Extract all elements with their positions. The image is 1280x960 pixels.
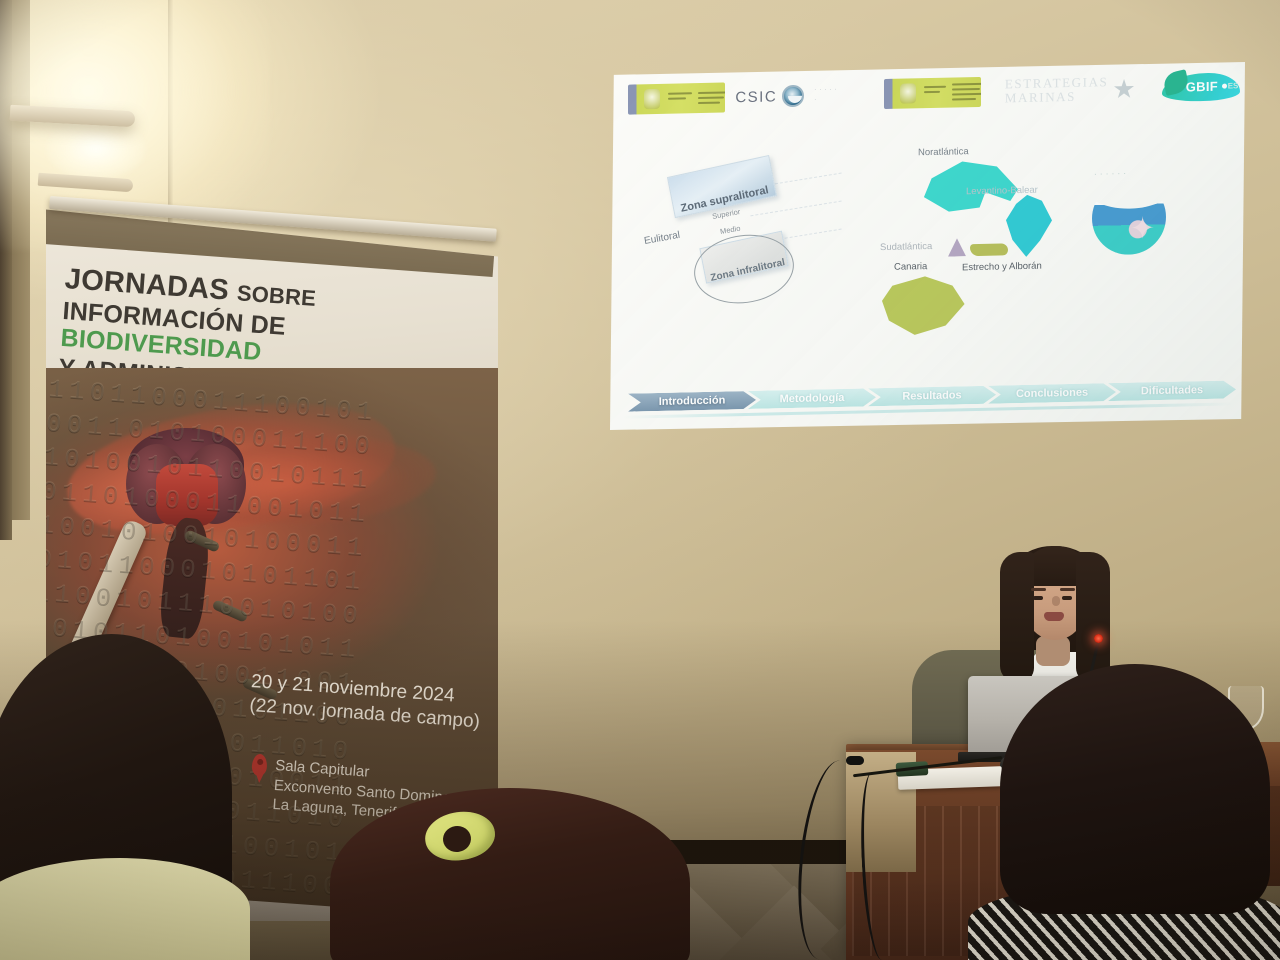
projected-slide-surface: CSIC · · · · · · [610,62,1245,430]
audience-member-left-body [0,858,250,960]
slide-logo-bar: CSIC · · · · · · [628,68,1232,117]
gobierno-transicion-ecologica-logo [884,77,981,109]
slide-content: CSIC · · · · · · [610,62,1245,430]
slide-nav-item-label: Metodología [780,392,845,405]
crest-icon-2 [900,83,916,103]
slide-nav-item-label: Dificultades [1141,384,1203,397]
gobierno-espana-logo [628,82,725,114]
gbif-es-logo: GBIF ES [1162,70,1232,104]
csic-wordmark: CSIC [735,88,777,106]
slide-nav-item-5[interactable]: Dificultades [1108,380,1236,401]
estrategias-marinas-logo: ESTRATEGIAS MARINAS ★ [1005,75,1136,105]
crest-icon [644,89,660,109]
microphone-indicator-light [1094,634,1103,643]
slide-nav-item-label: Introducción [659,394,726,407]
estrategias-marinas-caption: · · · · · · [1094,169,1127,179]
region-label-canaria: Canaria [894,261,927,273]
starfish-icon: ✦ [1130,214,1155,245]
audience-member-right-hair [1000,664,1270,914]
zonation-diagram: Zona supralitoral Superior Medio Inferio… [646,155,861,340]
region-shape-levantino-balear [1006,194,1052,257]
banner-title-word-sobre: SOBRE [236,280,317,311]
slide-nav-item-4[interactable]: Conclusiones [988,383,1116,404]
region-label-noratlantica: Noratlántica [918,146,969,158]
presenter-hair-left [1000,552,1034,682]
presenter-nose [1052,596,1060,606]
csic-mark-icon [782,85,804,107]
presenter-brow-left [1031,588,1046,591]
csic-logo: CSIC [735,85,804,109]
slide-nav-item-2[interactable]: Metodología [748,388,876,409]
presenter-eye-right [1062,596,1072,600]
star-icon: ★ [1112,76,1135,103]
podium-microphone-head [846,756,864,765]
wave-cut-shape [1092,180,1166,210]
region-label-sudatlantica: Sudatlántica [880,241,932,253]
gbif-suffix: ES [1228,81,1239,90]
projection-screen: CSIC · · · · · · [610,62,1245,430]
presenter-brow-right [1060,588,1075,591]
slide-nav-item-1[interactable]: Introducción [628,391,756,412]
dragonfly-face [156,464,218,526]
region-label-estrecho-alboran: Estrecho y Alborán [962,261,1042,274]
region-shape-canaria [882,274,968,338]
estrategias-marinas-wave-icon: ✦ [1092,180,1166,256]
wall-sconce-hotspot [46,118,146,180]
region-shape-estrecho-alboran [970,243,1008,256]
slide-nav-item-3[interactable]: Resultados [868,386,996,407]
region-label-levantino-balear: Levantino-Balear [966,185,1038,198]
csic-subtext: · · · · · · [814,84,839,106]
zonation-dash-2 [750,201,841,217]
marine-demarcations-map: Noratlántica Levantino-Balear Sudatlánti… [878,135,1128,350]
gbif-dot-icon [1222,84,1227,89]
conference-room-scene: JORNADAS SOBRE INFORMACIÓN DE BIODIVERSI… [0,0,1280,960]
presenter-eye-left [1033,596,1043,600]
estrategias-marinas-line2: MARINAS [1005,89,1109,105]
zonation-label-eulitoral: Eulitoral [643,230,680,247]
presenter-mouth [1044,612,1064,621]
zonation-level-medio: Medio [719,224,741,236]
region-shape-sudatlantica [948,238,966,256]
slide-nav-item-label: Resultados [902,389,961,402]
presenter-neck [1036,636,1070,666]
slide-nav-item-label: Conclusiones [1016,387,1088,401]
gbif-wordmark: GBIF [1186,79,1218,95]
